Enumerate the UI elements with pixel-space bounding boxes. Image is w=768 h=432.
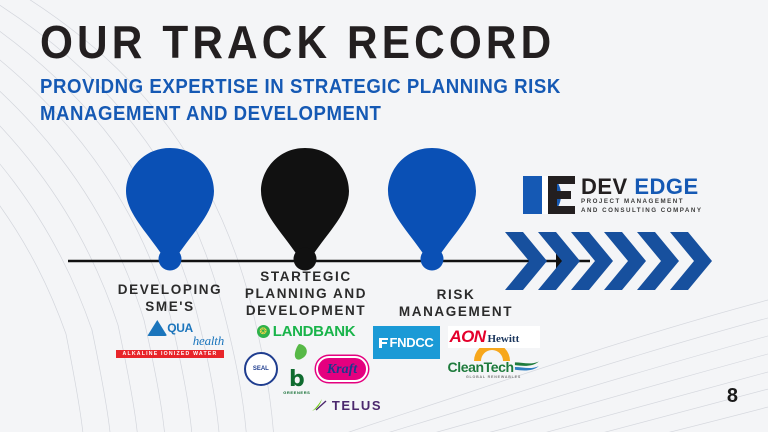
logo-row: FNDCC AON Hewitt CleanTech bbox=[370, 326, 542, 379]
landbank-logo: ❂ LANDBANK bbox=[257, 323, 356, 340]
aqua-health-banner: ALKALINE IONIZED WATER bbox=[116, 350, 224, 358]
timeline-stop-risk-management[interactable]: RISK MANAGEMENT FNDCC AON Hewitt bbox=[370, 286, 542, 379]
aqua-health-qua-text: QUA bbox=[167, 322, 192, 334]
risk-logo-stack: AON Hewitt CleanTech GLOBAL RENEWABL bbox=[448, 326, 540, 379]
government-seal-logo: SEAL bbox=[244, 352, 278, 386]
timeline-stop-label: STARTEGIC PLANNING AND DEVELOPMENT bbox=[222, 268, 390, 319]
timeline-pin-strategic-planning[interactable] bbox=[261, 148, 349, 271]
hewitt-text: Hewitt bbox=[487, 333, 519, 345]
slide-canvas: OUR TRACK RECORD PROVIDNG EXPERTISE IN S… bbox=[0, 0, 768, 432]
fndcc-logo: FNDCC bbox=[373, 326, 440, 359]
timeline-pin-risk-management[interactable] bbox=[388, 148, 476, 271]
dev-edge-wordmark: DEV EDGE PROJECT MANAGEMENT AND CONSULTI… bbox=[581, 176, 702, 215]
aqua-health-a-mark bbox=[147, 320, 167, 336]
fndcc-mark-icon bbox=[379, 338, 388, 348]
timeline-stop-strategic-planning[interactable]: STARTEGIC PLANNING AND DEVELOPMENT ❂ LAN… bbox=[222, 268, 390, 413]
logo-row-secondary: SEAL b GREENERS Kraft bbox=[222, 343, 390, 395]
kraft-text: Kraft bbox=[327, 362, 357, 377]
greeners-letter: b bbox=[282, 370, 312, 390]
aqua-health-logo: QUA health ALKALINE IONIZED WATER bbox=[116, 320, 224, 358]
brand-name-edge: EDGE bbox=[634, 174, 698, 199]
landbank-text: LANDBANK bbox=[273, 323, 356, 340]
telus-logo: TELUS bbox=[310, 397, 382, 413]
landbank-seal-icon: ❂ bbox=[257, 325, 270, 338]
dev-edge-monogram-icon bbox=[521, 172, 577, 218]
greeners-logo: b GREENERS bbox=[282, 343, 312, 395]
brand-tagline-line1: PROJECT MANAGEMENT bbox=[581, 198, 702, 206]
government-seal-text: SEAL bbox=[253, 366, 269, 372]
timeline-pin-developing-smes[interactable] bbox=[126, 148, 214, 271]
logo-row-primary: ❂ LANDBANK bbox=[222, 323, 390, 340]
greeners-caption: GREENERS bbox=[282, 390, 312, 395]
kraft-logo: Kraft bbox=[316, 356, 368, 382]
chevron-arrow-group bbox=[505, 232, 712, 290]
aon-text: AON bbox=[450, 327, 486, 347]
telus-bird-icon bbox=[310, 397, 330, 413]
telus-text: TELUS bbox=[332, 398, 382, 413]
cleantech-subtext: GLOBAL RENEWABLES bbox=[448, 375, 540, 379]
aon-hewitt-logo: AON Hewitt bbox=[448, 326, 540, 348]
greeners-leaf-icon bbox=[283, 343, 311, 365]
aqua-health-health-text: health bbox=[116, 333, 224, 349]
dev-edge-brand-logo[interactable]: DEV EDGE PROJECT MANAGEMENT AND CONSULTI… bbox=[521, 172, 702, 218]
brand-tagline-line2: AND CONSULTING COMPANY bbox=[581, 207, 702, 215]
page-number: 8 bbox=[727, 385, 738, 408]
fndcc-text: FNDCC bbox=[390, 335, 434, 350]
cleantech-wave-icon bbox=[514, 359, 540, 375]
timeline-stop-label: RISK MANAGEMENT bbox=[370, 286, 542, 320]
cleantech-text: CleanTech bbox=[448, 359, 514, 375]
brand-name-dev: DEV bbox=[581, 174, 628, 199]
cleantech-logo: CleanTech GLOBAL RENEWABLES bbox=[448, 348, 540, 379]
logo-row-tertiary: TELUS bbox=[222, 397, 390, 413]
